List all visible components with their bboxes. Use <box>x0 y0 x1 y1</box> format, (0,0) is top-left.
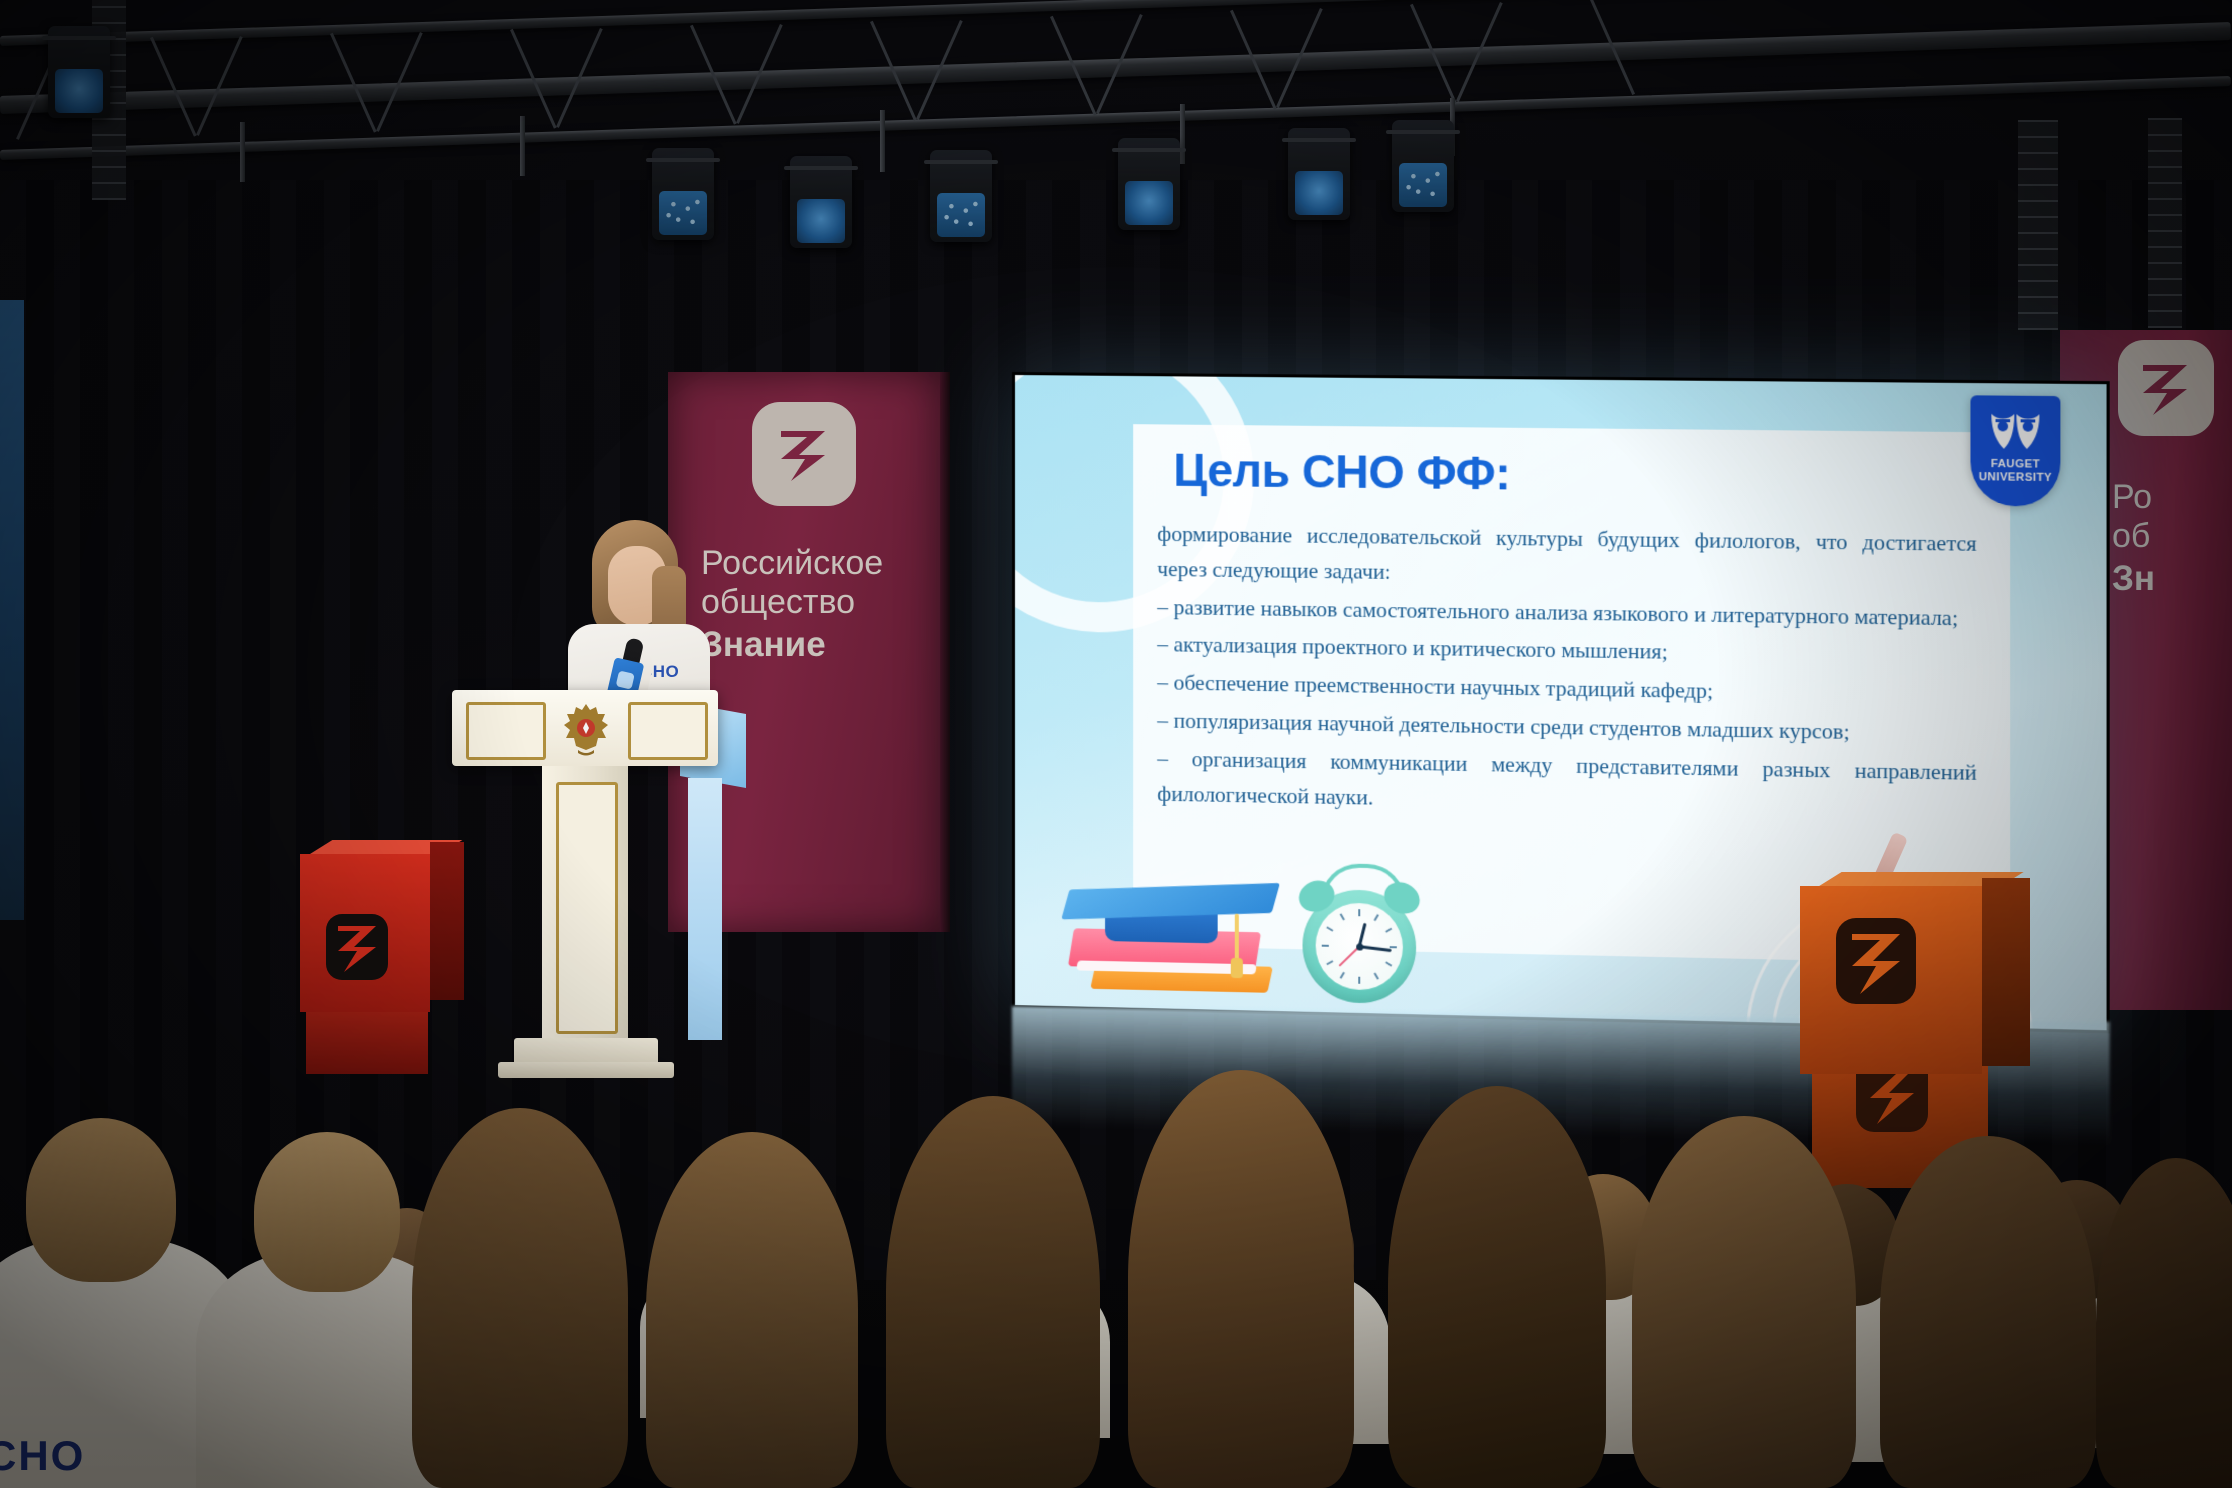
banner-right-line-1: Ро <box>2112 478 2232 517</box>
tassel-icon <box>1235 914 1239 962</box>
audience-shirt-label: СНО <box>0 1432 85 1480</box>
audience-head-front <box>886 1096 1100 1488</box>
graduation-cap-icon <box>1061 883 1280 919</box>
audience-head-front <box>1632 1116 1856 1488</box>
banner-right-line-2: об <box>2112 517 2232 556</box>
slide-title: Цель СНО ФФ: <box>1173 443 1510 501</box>
banner-line-3: Знание <box>701 625 929 666</box>
russian-coat-of-arms-icon <box>560 700 612 758</box>
stage-light-icon <box>930 150 992 242</box>
banner-line-2: общество <box>701 583 929 622</box>
audience-head <box>254 1132 400 1292</box>
stage-light-icon <box>48 26 110 118</box>
znanie-logo-icon <box>2118 340 2214 436</box>
audience-head-front <box>646 1132 858 1488</box>
banner-right-line-3: Зн <box>2112 559 2232 600</box>
stage-light-icon <box>1392 120 1454 212</box>
audience-head-front <box>1128 1070 1354 1488</box>
uni-logo-line-1: FAUGET <box>1991 458 2040 472</box>
stage-light-icon <box>1288 128 1350 220</box>
audience-head-front <box>1880 1136 2096 1488</box>
audience-head-front <box>412 1108 628 1488</box>
stage-light-icon <box>790 156 852 248</box>
slide-line: – организация коммуникации между предста… <box>1157 741 1976 826</box>
fauget-university-logo: FAUGET UNIVERSITY <box>1970 395 2060 506</box>
uni-logo-line-2: UNIVERSITY <box>1979 471 2052 485</box>
stage-light-icon <box>652 148 714 240</box>
left-edge-blue-banner <box>0 300 24 920</box>
znanie-banner-text: Российское общество Знание <box>679 544 929 665</box>
podium-panel-right <box>628 702 708 760</box>
audience-head-front <box>1388 1086 1606 1488</box>
znanie-logo-icon <box>752 402 856 506</box>
slide-body: формирование исследовательской культуры … <box>1157 517 1976 830</box>
audience: СНО <box>0 968 2232 1488</box>
znanie-banner-right-text: Ро об Зн <box>2112 478 2232 599</box>
podium-panel-left <box>466 702 546 760</box>
podium-top <box>452 690 718 766</box>
slide-line: формирование исследовательской культуры … <box>1157 517 1976 598</box>
stage-light-icon <box>1118 138 1180 230</box>
stage-photo-scene: Российское общество Знание Ро об Зн <box>0 0 2232 1488</box>
lighting-truss <box>0 0 2232 330</box>
banner-line-1: Российское <box>701 544 929 583</box>
audience-head <box>26 1118 176 1282</box>
